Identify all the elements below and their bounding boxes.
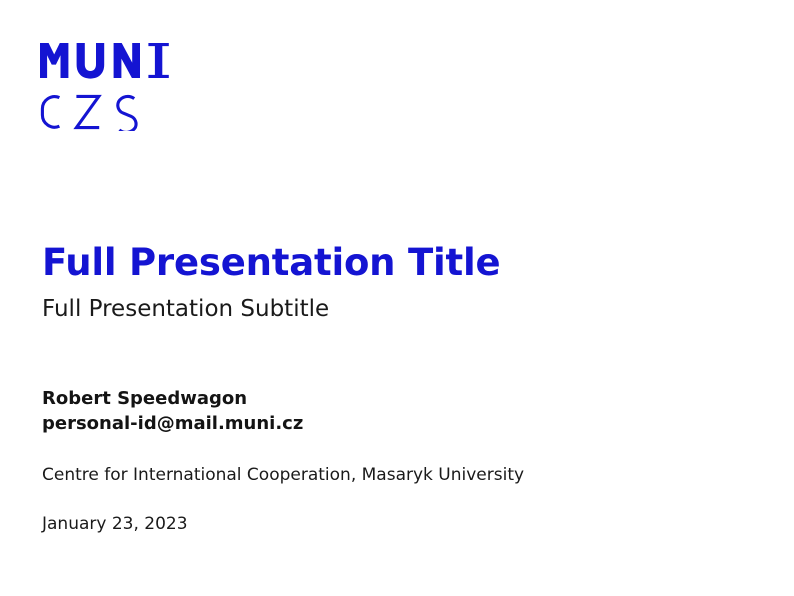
author-block: Robert Speedwagon personal-id@mail.muni.…: [42, 386, 742, 437]
logo-line-czs-glyphs: [42, 96, 136, 131]
author-email: personal-id@mail.muni.cz: [42, 411, 742, 437]
muni-czs-logo: [40, 41, 182, 131]
logo-line-muni-glyphs: [40, 43, 169, 79]
author-name: Robert Speedwagon: [42, 386, 742, 412]
affiliation: Centre for International Cooperation, Ma…: [42, 464, 742, 486]
page-title: Full Presentation Title: [42, 243, 742, 282]
presentation-date: January 23, 2023: [42, 513, 742, 535]
title-slide: Full Presentation Title Full Presentatio…: [0, 0, 794, 596]
page-subtitle: Full Presentation Subtitle: [42, 296, 742, 324]
slide-content: Full Presentation Title Full Presentatio…: [42, 243, 742, 535]
